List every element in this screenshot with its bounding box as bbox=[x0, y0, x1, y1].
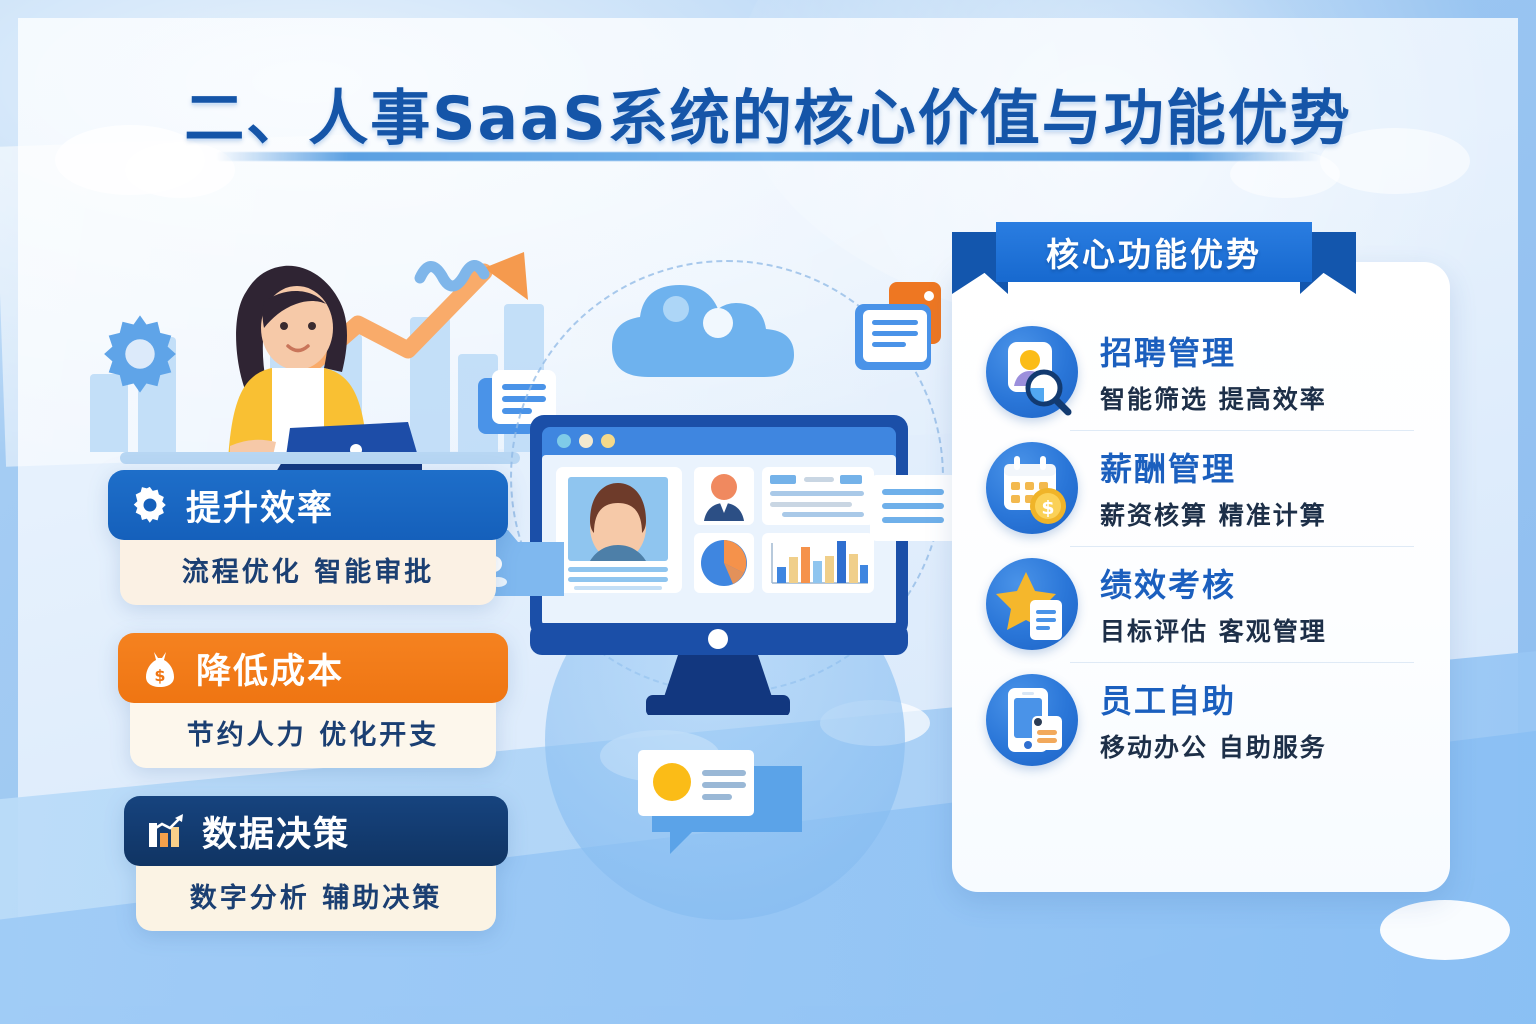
feature-text: 招聘管理 智能筛选 提高效率 bbox=[1100, 328, 1327, 416]
title-underline bbox=[216, 152, 1321, 161]
value-card-header[interactable]: 提升效率 bbox=[108, 470, 508, 540]
value-card-header[interactable]: 数据决策 bbox=[124, 796, 508, 866]
monitor-dashboard-illustration bbox=[528, 415, 938, 715]
note-card-icon bbox=[870, 475, 958, 547]
svg-text:$: $ bbox=[154, 666, 165, 685]
value-card-title: 提升效率 bbox=[186, 480, 334, 531]
svg-text:$: $ bbox=[1041, 497, 1054, 519]
value-card-cost[interactable]: $ 降低成本 节约人力 优化开支 bbox=[118, 633, 508, 768]
infographic-canvas: 二、人事SaaS系统的核心价值与功能优势 bbox=[0, 0, 1536, 1024]
desk-surface bbox=[120, 452, 520, 464]
feature-subtitle: 目标评估 客观管理 bbox=[1100, 612, 1327, 648]
value-card-title: 降低成本 bbox=[196, 643, 344, 694]
value-card-data[interactable]: 数据决策 数字分析 辅助决策 bbox=[124, 796, 508, 931]
page-title: 二、人事SaaS系统的核心价值与功能优势 bbox=[0, 70, 1536, 157]
feature-item-performance[interactable]: 绩效考核 目标评估 客观管理 bbox=[952, 546, 1450, 662]
feature-text: 绩效考核 目标评估 客观管理 bbox=[1100, 560, 1327, 648]
money-bag-icon: $ bbox=[140, 648, 180, 688]
feature-title: 招聘管理 bbox=[1100, 328, 1327, 374]
feature-divider bbox=[1070, 662, 1414, 663]
gear-icon bbox=[130, 485, 170, 525]
value-cards-list: 提升效率 流程优化 智能审批 $ 降低成本 节约人力 优化开支 bbox=[108, 470, 508, 959]
cloud-decor-7 bbox=[1380, 900, 1510, 960]
feature-divider bbox=[1070, 546, 1414, 547]
person-search-icon bbox=[986, 326, 1078, 418]
feature-title: 薪酬管理 bbox=[1100, 444, 1327, 490]
chat-bubble-contact-card bbox=[630, 750, 820, 860]
feature-item-selfservice[interactable]: 员工自助 移动办公 自助服务 bbox=[952, 662, 1450, 778]
core-features-ribbon: 核心功能优势 bbox=[952, 218, 1356, 286]
feature-item-payroll[interactable]: $ 薪酬管理 薪资核算 精准计算 bbox=[952, 430, 1450, 546]
feature-title: 员工自助 bbox=[1100, 676, 1327, 722]
feature-subtitle: 薪资核算 精准计算 bbox=[1100, 496, 1327, 532]
feature-subtitle: 智能筛选 提高效率 bbox=[1100, 380, 1327, 416]
feature-subtitle: 移动办公 自助服务 bbox=[1100, 728, 1327, 764]
star-document-icon bbox=[986, 558, 1078, 650]
ribbon-label: 核心功能优势 bbox=[1046, 228, 1262, 276]
cloud-icon bbox=[600, 265, 810, 380]
value-card-title: 数据决策 bbox=[202, 806, 350, 857]
feature-item-recruitment[interactable]: 招聘管理 智能筛选 提高效率 bbox=[952, 314, 1450, 430]
calendar-coin-icon: $ bbox=[986, 442, 1078, 534]
illustration-center bbox=[470, 230, 990, 910]
ribbon-main: 核心功能优势 bbox=[996, 222, 1312, 282]
value-card-efficiency[interactable]: 提升效率 流程优化 智能审批 bbox=[108, 470, 508, 605]
document-card-icon-right bbox=[855, 282, 951, 374]
woman-with-laptop-illustration bbox=[172, 250, 422, 470]
feature-title: 绩效考核 bbox=[1100, 560, 1327, 606]
core-features-panel: 招聘管理 智能筛选 提高效率 $ bbox=[952, 262, 1450, 892]
feature-divider bbox=[1070, 430, 1414, 431]
value-card-header[interactable]: $ 降低成本 bbox=[118, 633, 508, 703]
feature-text: 员工自助 移动办公 自助服务 bbox=[1100, 676, 1327, 764]
page-title-wrap: 二、人事SaaS系统的核心价值与功能优势 bbox=[0, 70, 1536, 157]
bar-chart-icon bbox=[146, 811, 186, 851]
feature-text: 薪酬管理 薪资核算 精准计算 bbox=[1100, 444, 1327, 532]
mobile-selfservice-icon bbox=[986, 674, 1078, 766]
